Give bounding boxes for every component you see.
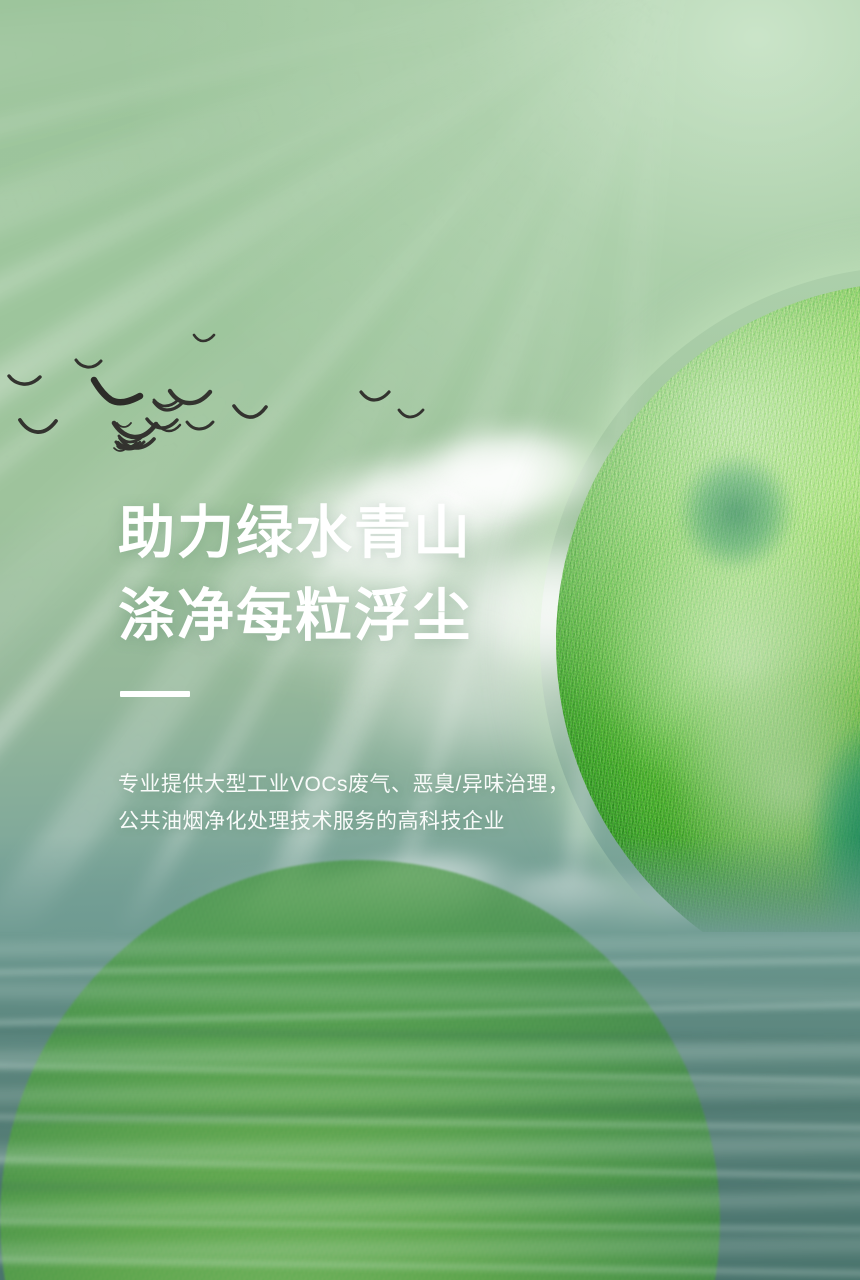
headline-line-2: 涤净每粒浮尘 <box>118 575 472 658</box>
headline-divider <box>120 691 190 697</box>
subtitle: 专业提供大型工业VOCs废气、恶臭/异味治理， 公共油烟净化处理技术服务的高科技… <box>118 766 569 840</box>
globe-reflection <box>0 860 720 1280</box>
water-surface <box>0 932 860 1280</box>
headline-line-1: 助力绿水青山 <box>118 492 472 575</box>
subtitle-line-1: 专业提供大型工业VOCs废气、恶臭/异味治理， <box>118 766 569 803</box>
subtitle-line-2: 公共油烟净化处理技术服务的高科技企业 <box>118 803 569 840</box>
headline: 助力绿水青山 涤净每粒浮尘 <box>118 492 472 658</box>
eco-poster: 助力绿水青山 涤净每粒浮尘 专业提供大型工业VOCs废气、恶臭/异味治理， 公共… <box>0 0 860 1280</box>
